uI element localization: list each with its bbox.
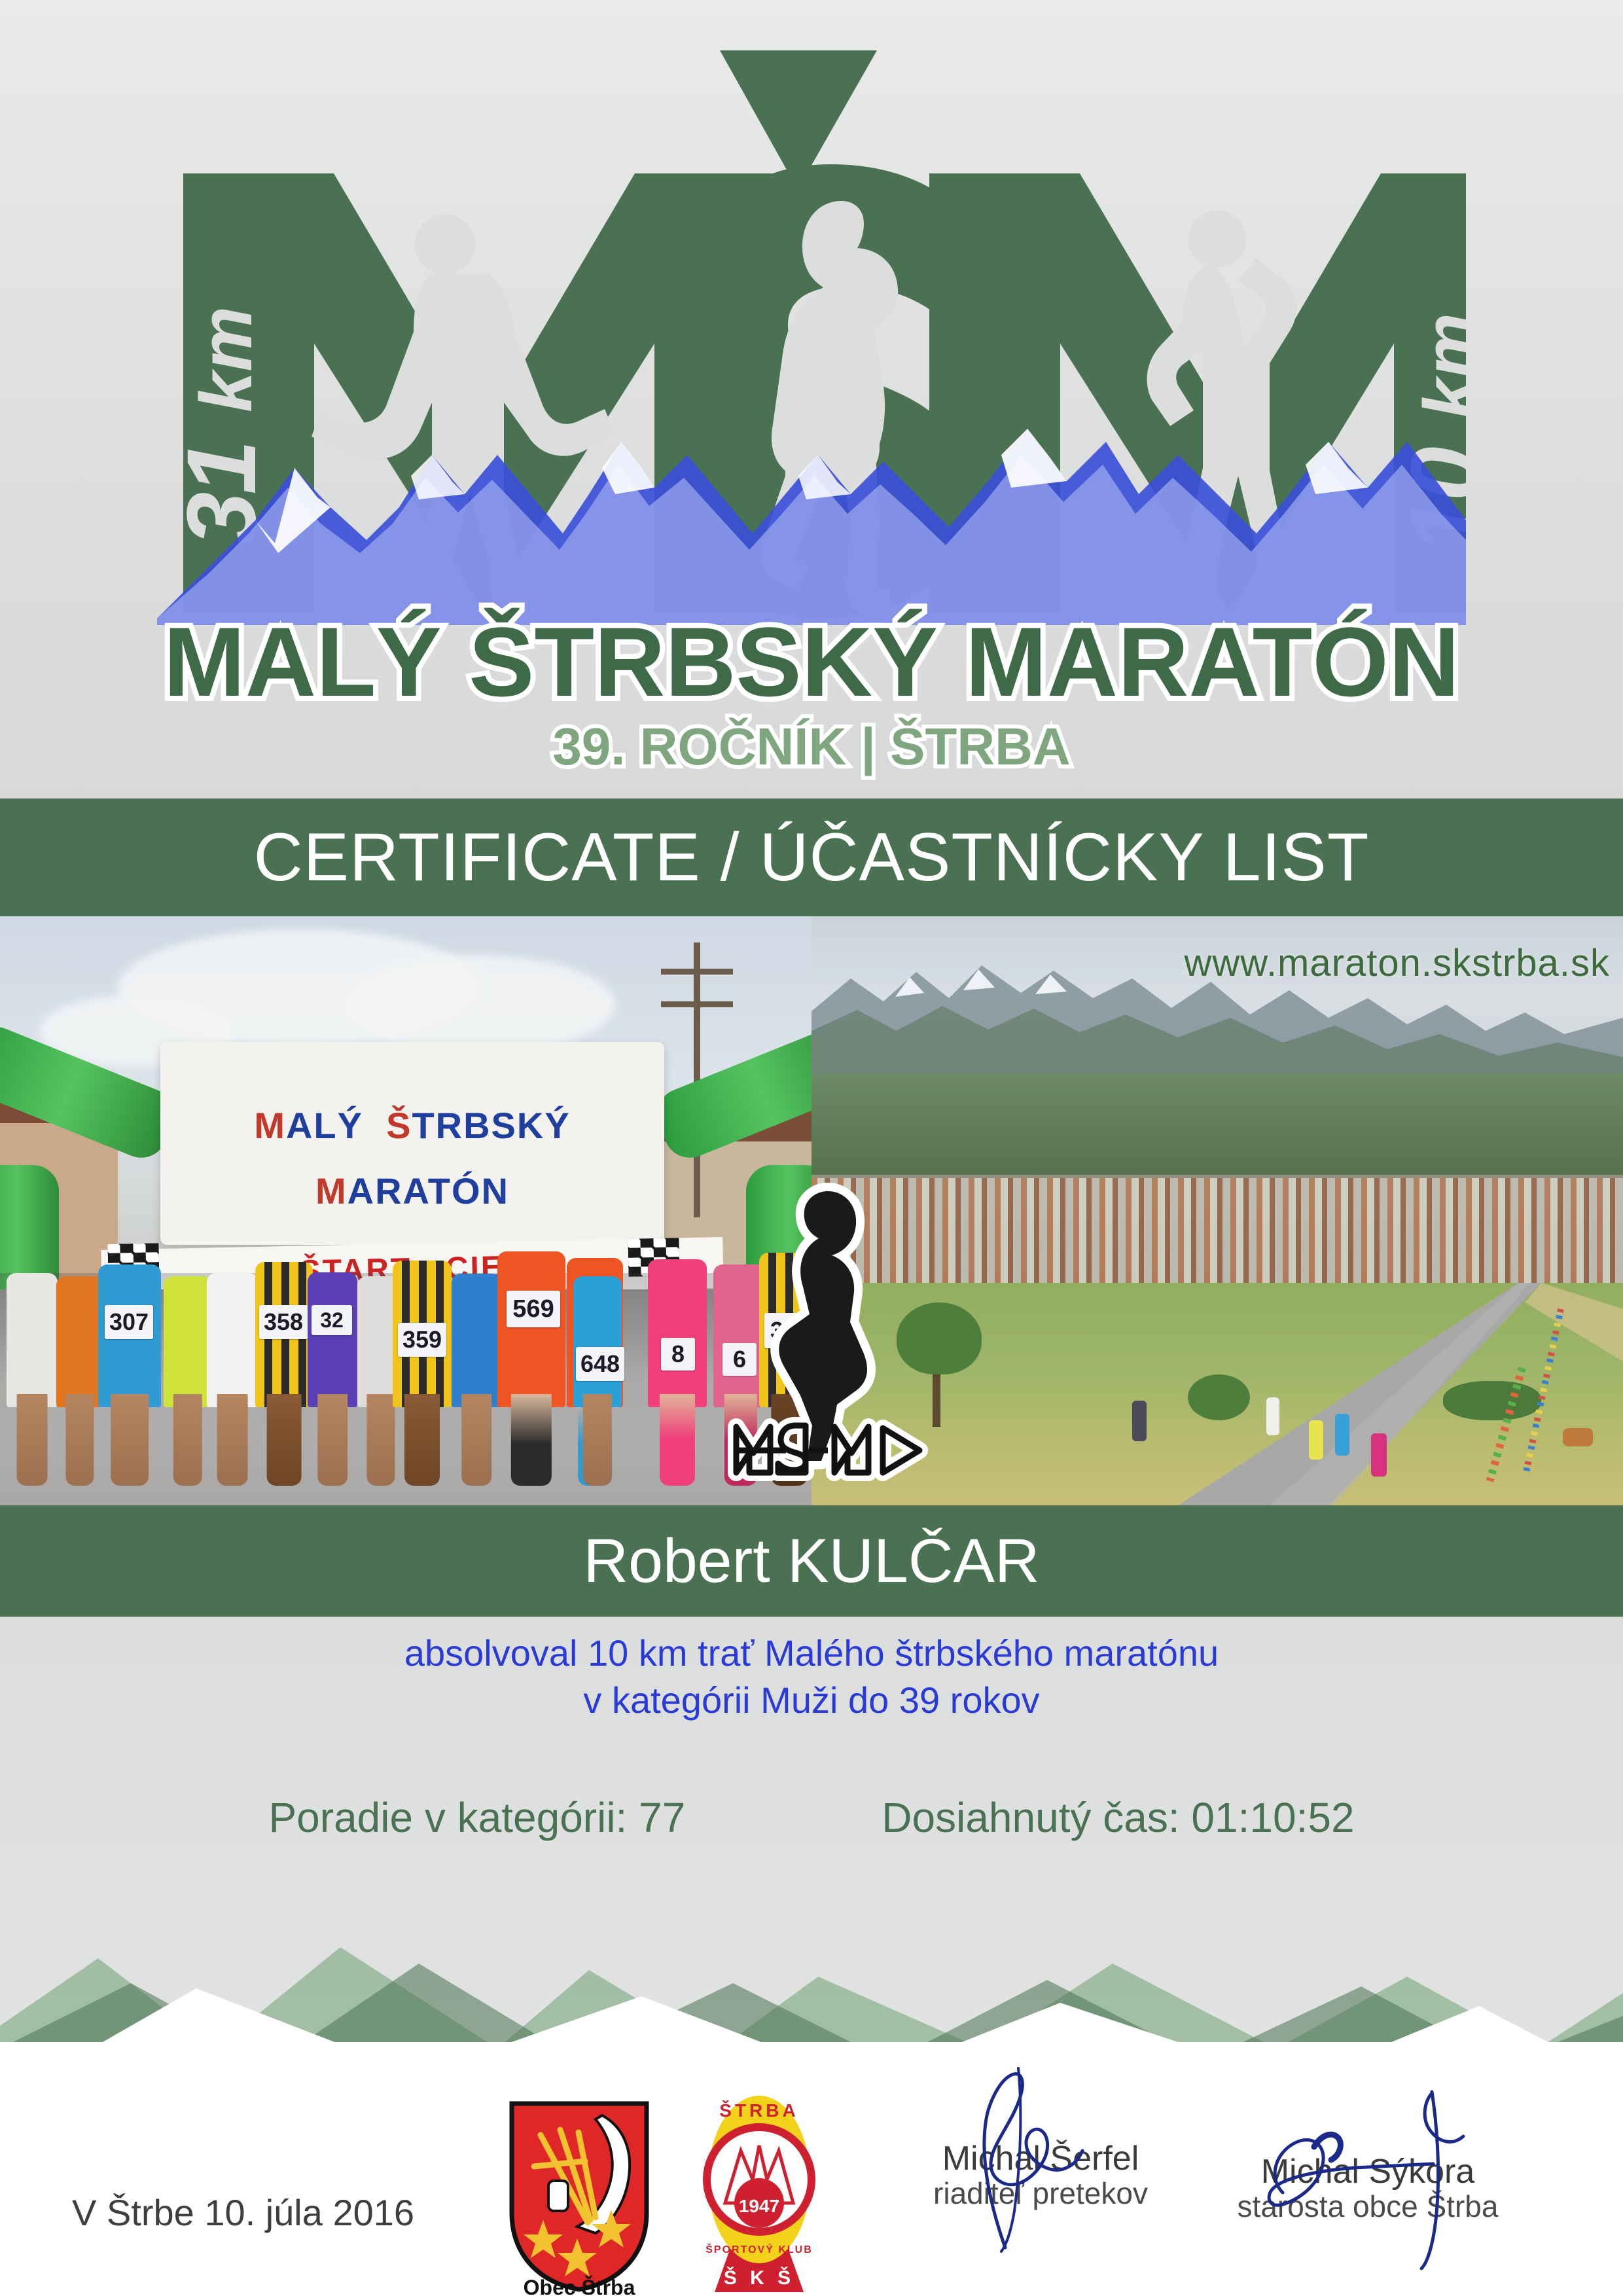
category-rank: Poradie v kategórii: 77 [268, 1793, 685, 1842]
achievement-line-1: absolvoval 10 km trať Malého štrbského m… [0, 1630, 1623, 1677]
page-title: CERTIFICATE / ÚČASTNÍCKY LIST [254, 823, 1370, 891]
result-row: Poradie v kategórii: 77 Dosiahnutý čas: … [0, 1793, 1623, 1842]
website-url[interactable]: www.maraton.skstrba.sk [969, 941, 1610, 985]
logo-title: MALÝ ŠTRBSKÝ MARATÓN [164, 607, 1459, 717]
issue-date: V Štrbe 10. júla 2016 [72, 2191, 414, 2234]
signature-mayor: Michal Sýkora starosta obce Štrba [1171, 2153, 1564, 2224]
footer: V Štrbe 10. júla 2016 Obec Štrba [0, 2042, 1623, 2296]
msm-watermark-logo [723, 1165, 933, 1492]
club-top-text: ŠTRBA [719, 2100, 798, 2121]
certificate-page: 31 km [0, 0, 1623, 2296]
club-year: 1947 [739, 2196, 779, 2216]
participant-name: Robert KULČAR [584, 1530, 1040, 1592]
photo-start-line: MALÝ ŠTRBSKÝ MARATÓN ŠTART - CIEĽ 307 [0, 916, 811, 1505]
event-logo-block: 31 km [0, 0, 1623, 795]
finish-time: Dosiahnutý čas: 01:10:52 [882, 1793, 1354, 1842]
achievement-line-2: v kategórii Muži do 39 rokov [0, 1677, 1623, 1724]
svg-text:km: km [185, 306, 267, 412]
signature-ink-director [942, 2063, 1139, 2253]
arch-line-2: MARATÓN [160, 1170, 664, 1212]
crest-caption: Obec Štrba [524, 2276, 635, 2295]
participant-name-band: Robert KULČAR [0, 1505, 1623, 1617]
achievement-text: absolvoval 10 km trať Malého štrbského m… [0, 1630, 1623, 1723]
arch-line-1: MALÝ ŠTRBSKÝ [160, 1104, 664, 1147]
sks-club-emblem: 1947 ŠTRBA Š K Š ŠPORTOVÝ KLUB [687, 2088, 831, 2296]
msm-logo: 31 km [157, 36, 1466, 789]
obec-strba-crest: Obec Štrba [504, 2098, 654, 2295]
certificate-title-band: CERTIFICATE / ÚČASTNÍCKY LIST [0, 798, 1623, 916]
club-ring-text: ŠPORTOVÝ KLUB [705, 2243, 813, 2255]
caron-icon [720, 50, 877, 177]
svg-text:km: km [1409, 313, 1466, 419]
photo-course-landscape [811, 916, 1623, 1505]
signature-ink-mayor [1243, 2068, 1505, 2271]
club-bottom-text: Š K Š [724, 2267, 794, 2289]
logo-subtitle: 39. ROČNÍK | ŠTRBA [552, 717, 1070, 776]
